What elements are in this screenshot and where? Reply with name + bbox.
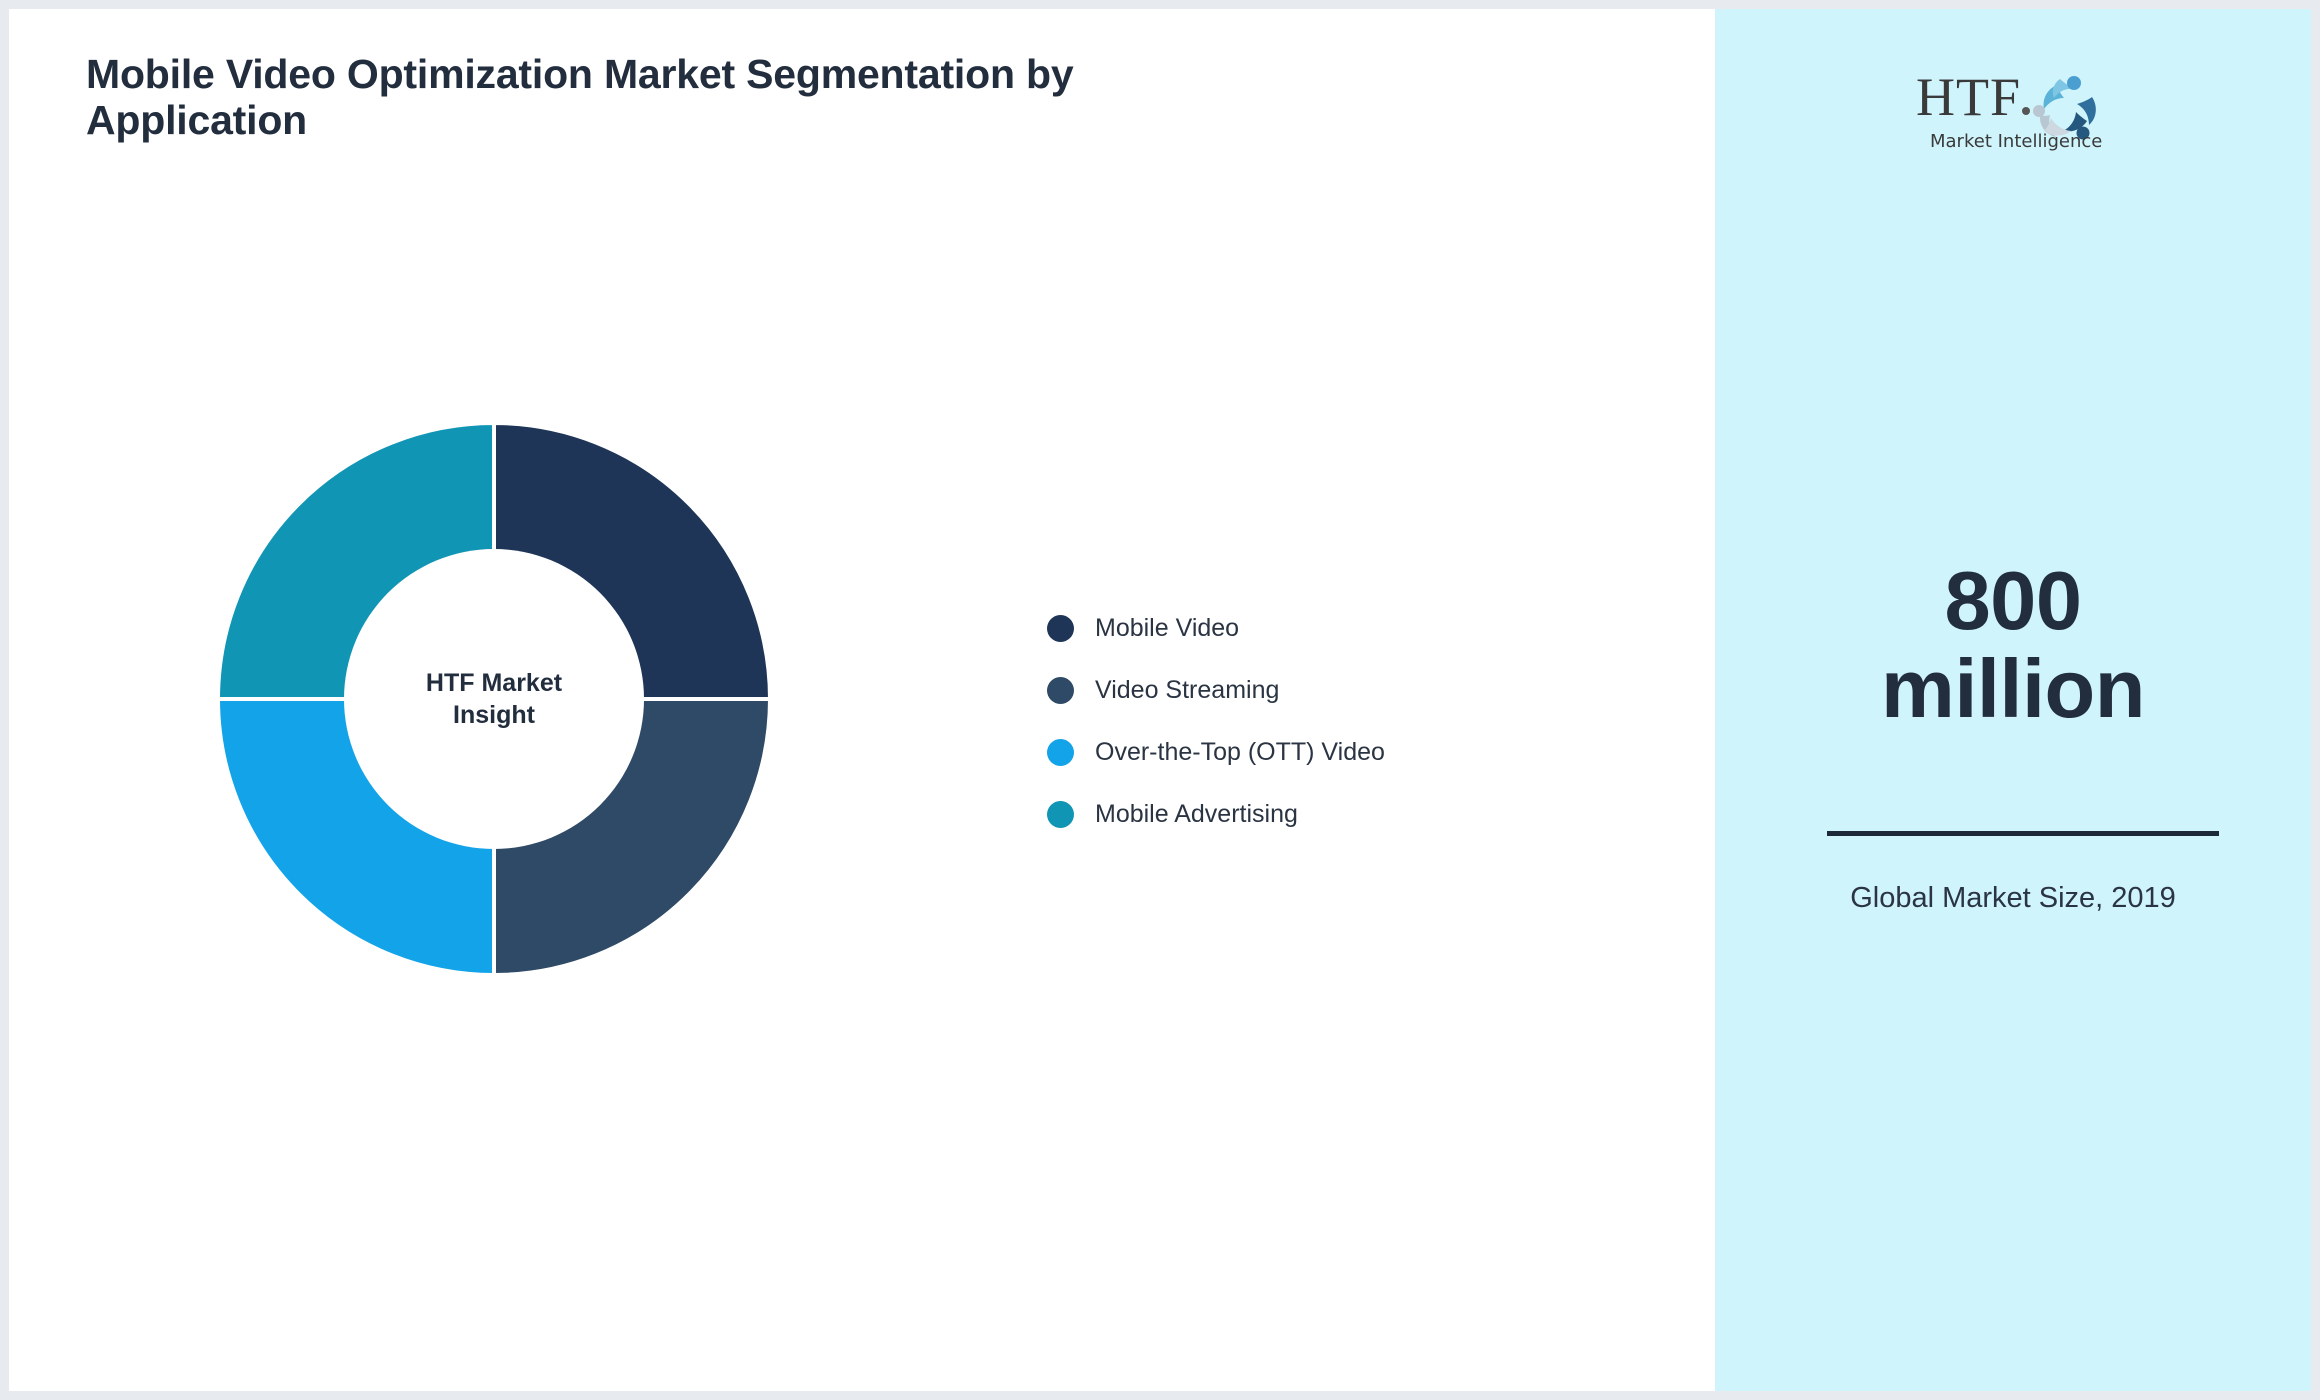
stat-panel: HTF <box>1715 9 2311 1391</box>
logo-svg: HTF <box>1908 57 2118 157</box>
logo-wordmark-text: HTF <box>1916 67 2021 127</box>
stat-caption: Global Market Size, 2019 <box>1715 877 2311 919</box>
htf-market-intelligence-logo: HTF <box>1908 57 2118 157</box>
legend-item-label: Video Streaming <box>1095 676 1279 705</box>
infographic-root: Mobile Video Optimization Market Segment… <box>0 0 2320 1400</box>
stat-divider <box>1827 831 2219 836</box>
chart-legend: Mobile Video Video Streaming Over-the-To… <box>1047 597 1385 845</box>
legend-item-label: Over-the-Top (OTT) Video <box>1095 738 1385 767</box>
legend-item-mobile-video[interactable]: Mobile Video <box>1047 597 1385 659</box>
stat-value-number: 800 <box>1945 554 2082 647</box>
logo-tagline-text: Market Intelligence <box>1930 131 2102 152</box>
page-title: Mobile Video Optimization Market Segment… <box>86 52 1086 144</box>
donut-hole <box>344 549 644 849</box>
legend-item-label: Mobile Video <box>1095 614 1239 643</box>
legend-item-label: Mobile Advertising <box>1095 800 1298 829</box>
donut-chart-svg <box>212 417 776 981</box>
legend-item-video-streaming[interactable]: Video Streaming <box>1047 659 1385 721</box>
legend-item-mobile-advertising[interactable]: Mobile Advertising <box>1047 783 1385 845</box>
legend-swatch-icon <box>1047 615 1074 642</box>
donut-chart: HTF Market Insight <box>212 417 776 981</box>
stat-value-scale: million <box>1881 642 2145 735</box>
legend-swatch-icon <box>1047 801 1074 828</box>
legend-swatch-icon <box>1047 677 1074 704</box>
main-content-panel: Mobile Video Optimization Market Segment… <box>9 9 1715 1391</box>
legend-item-ott-video[interactable]: Over-the-Top (OTT) Video <box>1047 721 1385 783</box>
logo-emblem-icon <box>2033 76 2096 140</box>
stat-value: 800 million <box>1715 557 2311 733</box>
logo-dot-icon <box>2022 107 2030 115</box>
legend-swatch-icon <box>1047 739 1074 766</box>
